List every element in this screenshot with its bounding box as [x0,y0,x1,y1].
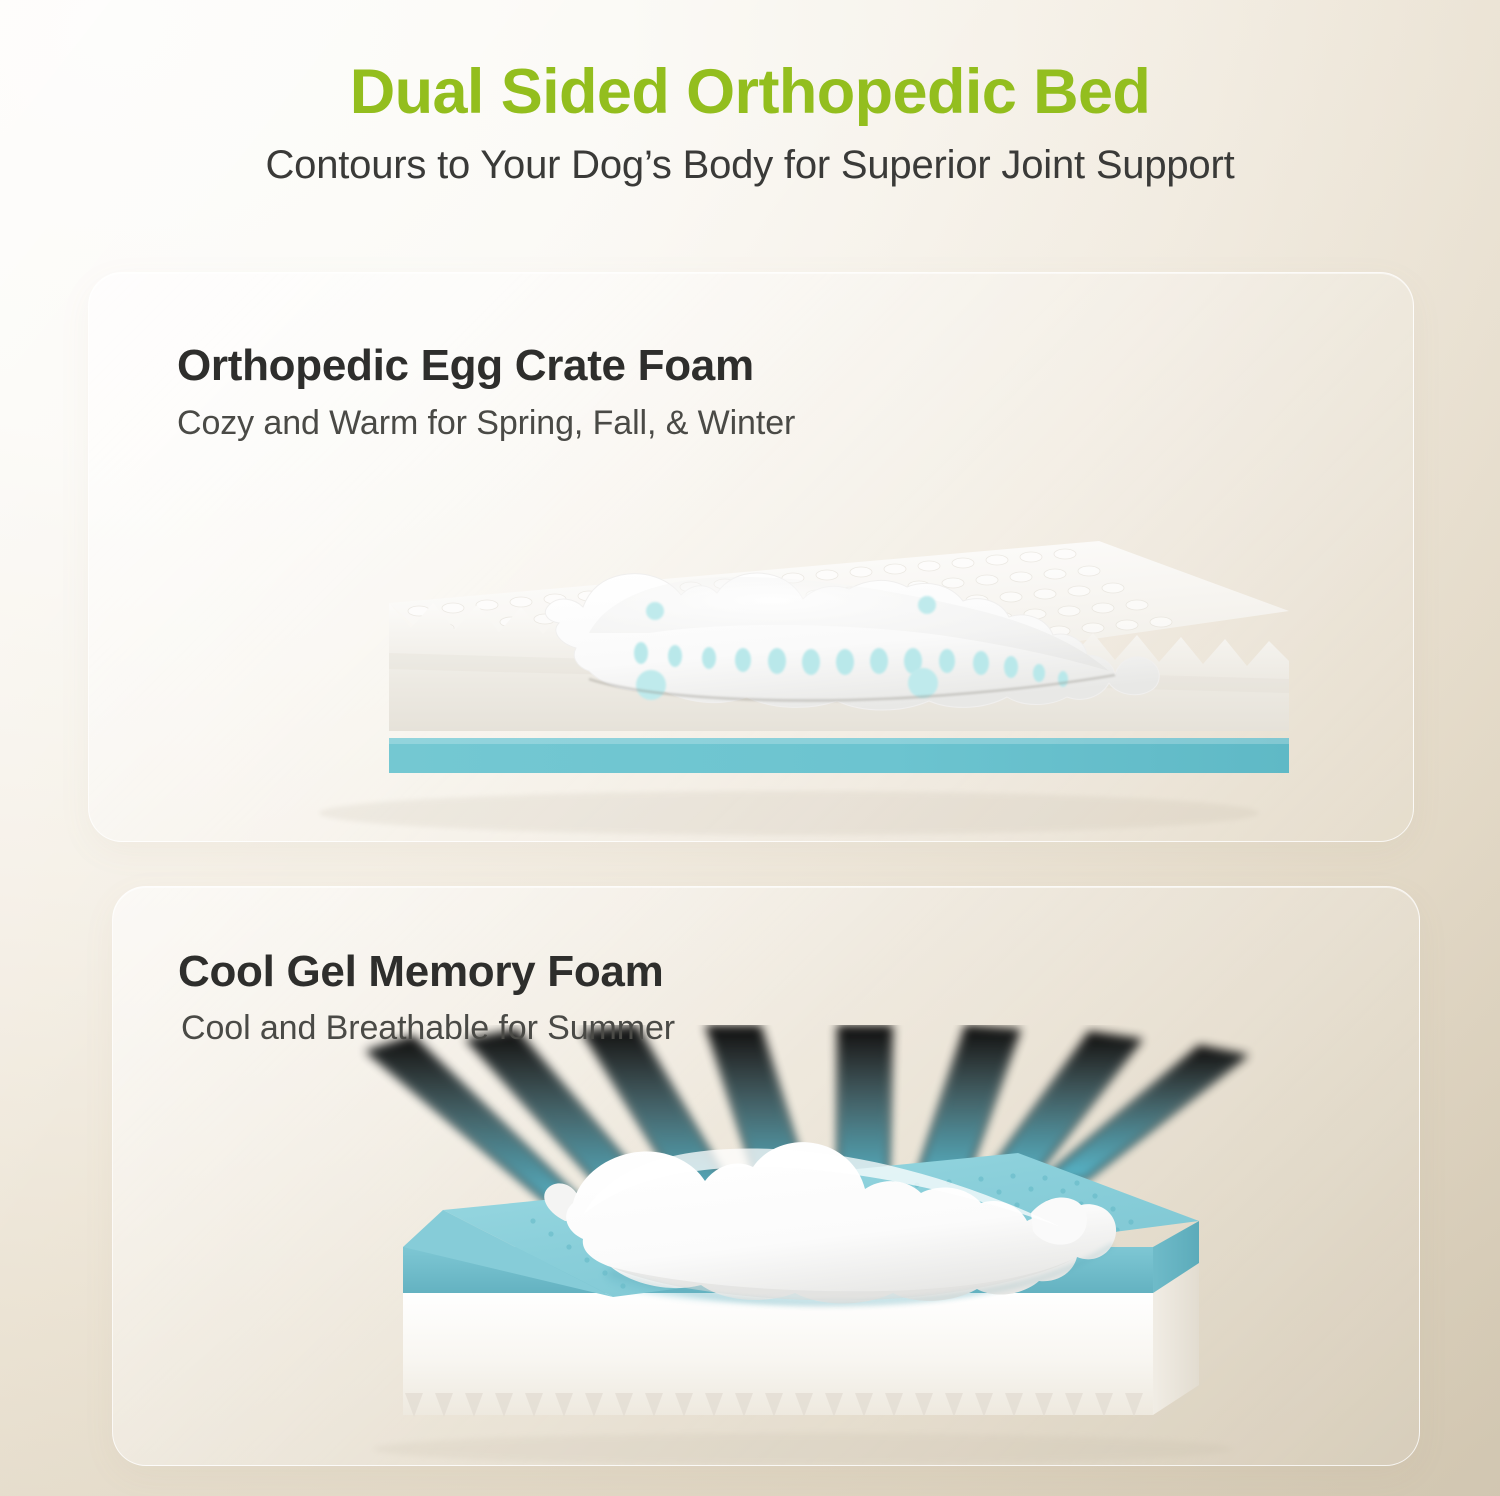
page-background: Dual Sided Orthopedic Bed Contours to Yo… [0,0,1500,1496]
card-subtitle-egg-crate: Cozy and Warm for Spring, Fall, & Winter [177,404,795,443]
header: Dual Sided Orthopedic Bed Contours to Yo… [0,58,1500,188]
egg-crate-foam-illustration [89,483,1414,842]
card-subtitle-cool-gel: Cool and Breathable for Summer [181,1009,675,1048]
page-subtitle: Contours to Your Dog’s Body for Superior… [0,143,1500,188]
card-title-egg-crate: Orthopedic Egg Crate Foam [177,341,754,391]
card-title-cool-gel: Cool Gel Memory Foam [178,947,663,997]
feature-card-egg-crate-foam: Orthopedic Egg Crate Foam Cozy and Warm … [88,272,1414,842]
feature-card-cool-gel-memory-foam: Cool Gel Memory Foam Cool and Breathable… [112,886,1420,1466]
cool-gel-foam-illustration [113,1025,1420,1466]
page-title: Dual Sided Orthopedic Bed [0,58,1500,127]
